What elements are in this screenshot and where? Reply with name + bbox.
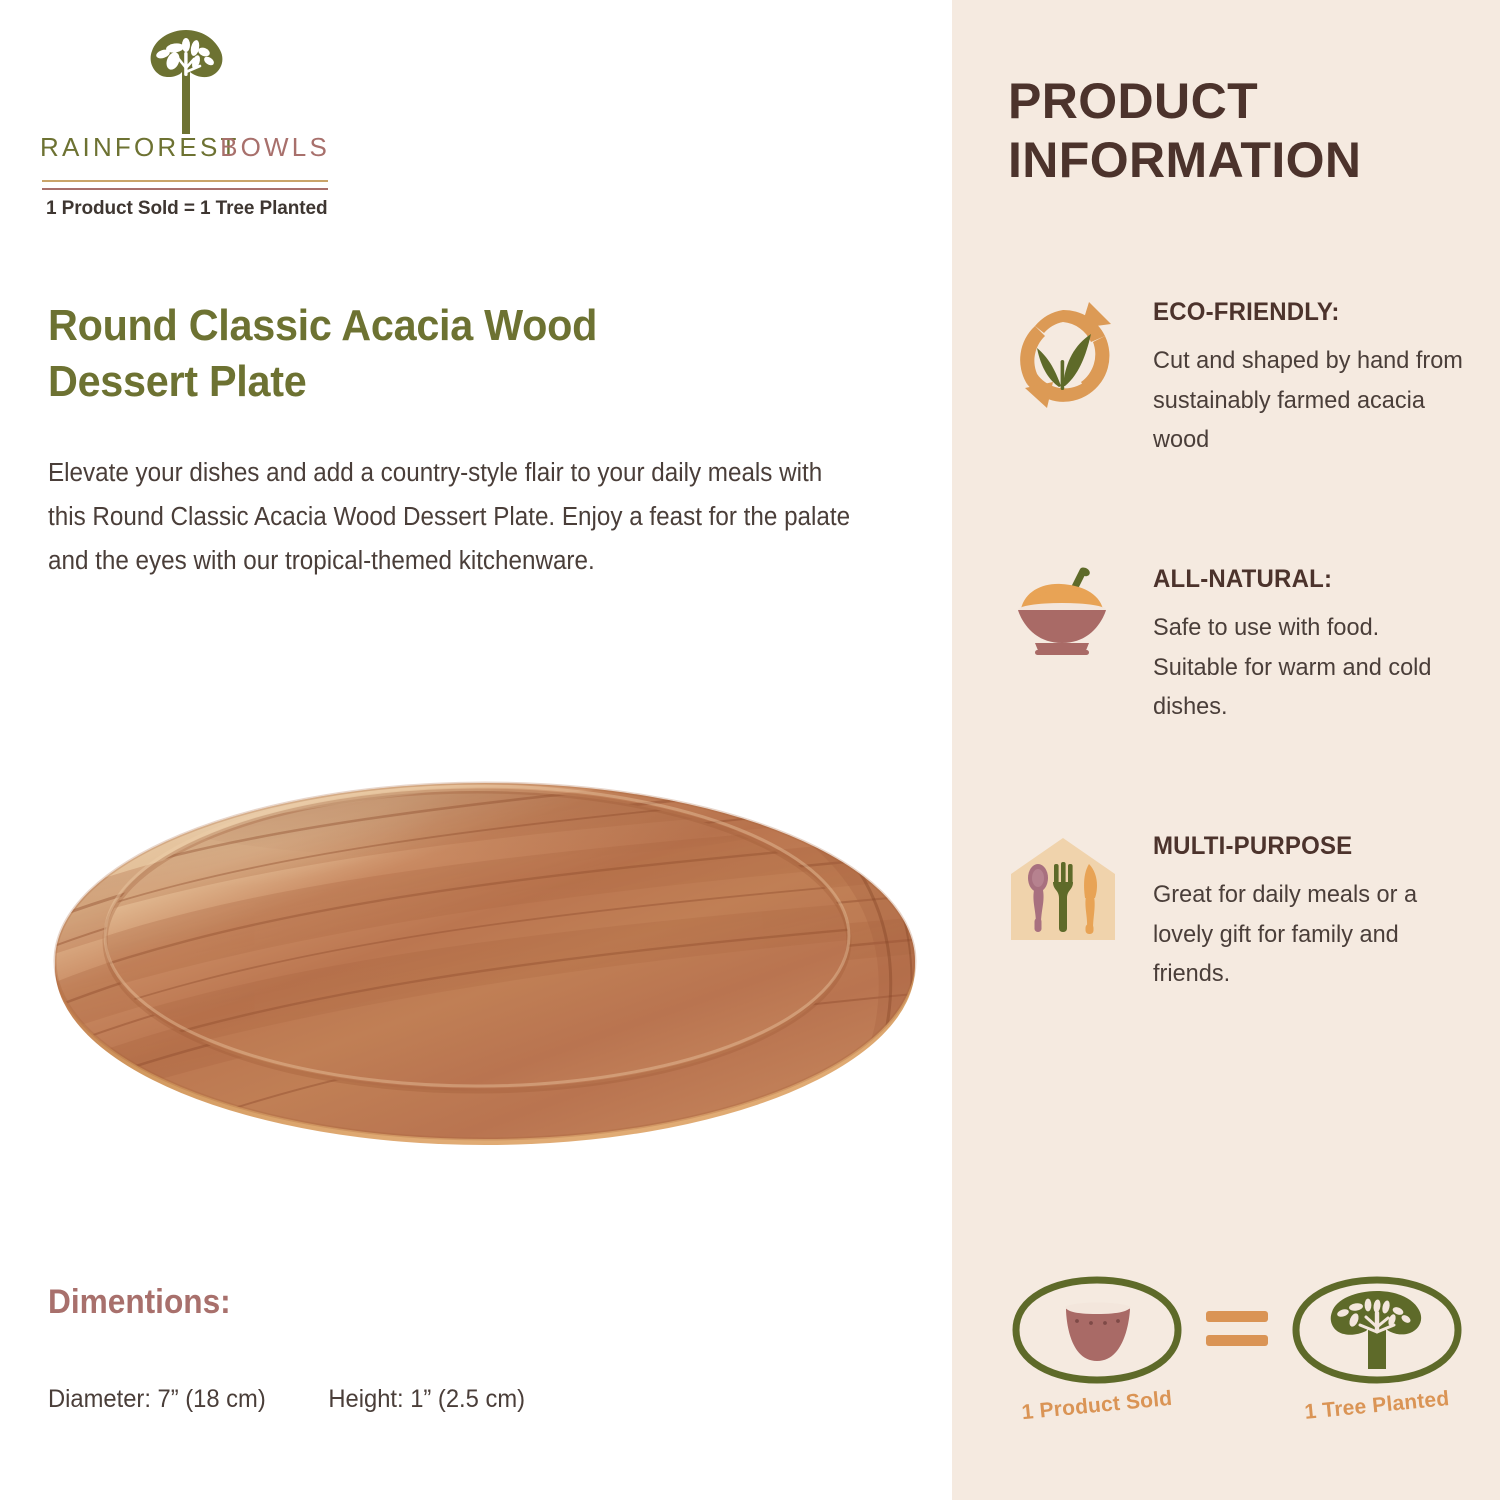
feature-title: ALL-NATURAL: — [1153, 565, 1470, 594]
badge-tree-planted: 1 Tree Planted — [1288, 1275, 1466, 1418]
house-with-utensils-icon — [1005, 832, 1121, 948]
tree-outline-badge-icon — [1288, 1275, 1466, 1385]
product-title: Round Classic Acacia Wood Dessert Plate — [48, 298, 744, 411]
feature-title: MULTI-PURPOSE — [1153, 832, 1470, 861]
bowl-outline-badge-icon — [1008, 1275, 1186, 1385]
bowl-of-food-with-spoon-icon — [1005, 565, 1121, 681]
logo-wordmark: RAINFOREST BOWLS — [40, 132, 330, 176]
logo-word-bowls: BOWLS — [220, 132, 330, 163]
brand-tagline: 1 Product Sold = 1 Tree Planted — [46, 198, 327, 220]
dimension-height: Height: 1” (2.5 cm) — [328, 1385, 525, 1413]
logo-divider-rose — [42, 188, 328, 190]
logo-tree-wrap — [40, 28, 330, 136]
feature-text: Safe to use with food. Suitable for warm… — [1153, 608, 1470, 727]
badge-label: 1 Product Sold — [1007, 1386, 1186, 1427]
feature-body: ALL-NATURAL: Safe to use with food. Suit… — [1153, 565, 1483, 727]
product-description: Elevate your dishes and add a country-st… — [48, 452, 865, 584]
feature-title: ECO-FRIENDLY: — [1153, 298, 1470, 327]
badge-label: 1 Tree Planted — [1287, 1386, 1466, 1427]
acacia-tree-icon — [148, 28, 224, 141]
feature-body: ECO-FRIENDLY: Cut and shaped by hand fro… — [1153, 298, 1483, 460]
feature-body: MULTI-PURPOSE Great for daily meals or a… — [1153, 832, 1483, 994]
dimensions-values: Diameter: 7” (18 cm) Height: 1” (2.5 cm) — [48, 1385, 525, 1414]
equals-icon — [1206, 1311, 1270, 1346]
dimensions-heading: Dimentions: — [48, 1283, 231, 1322]
equals-bar-top — [1206, 1311, 1268, 1322]
round-acacia-wood-dessert-plate-photo — [45, 765, 925, 1165]
dimension-diameter: Diameter: 7” (18 cm) — [48, 1385, 266, 1413]
feature-text: Cut and shaped by hand from sustainably … — [1153, 341, 1470, 460]
equals-bar-bottom — [1206, 1335, 1268, 1346]
product-information-infographic: RAINFOREST BOWLS 1 Product Sold = 1 Tree… — [0, 0, 1500, 1500]
feature-text: Great for daily meals or a lovely gift f… — [1153, 875, 1470, 994]
product-image — [45, 765, 925, 1165]
logo-divider-gold — [42, 180, 328, 182]
badge-product-sold: 1 Product Sold — [1008, 1275, 1186, 1418]
logo-word-rainforest: RAINFOREST — [40, 132, 240, 163]
panel-title: PRODUCT INFORMATION — [1008, 72, 1478, 190]
brand-logo: RAINFOREST BOWLS 1 Product Sold = 1 Tree… — [40, 28, 330, 176]
one-product-one-tree-badges: 1 Product Sold — [1000, 1275, 1480, 1455]
recycle-leaf-icon — [1005, 298, 1121, 414]
panel-title-line-2: INFORMATION — [1008, 131, 1478, 190]
panel-title-line-1: PRODUCT — [1008, 72, 1478, 131]
